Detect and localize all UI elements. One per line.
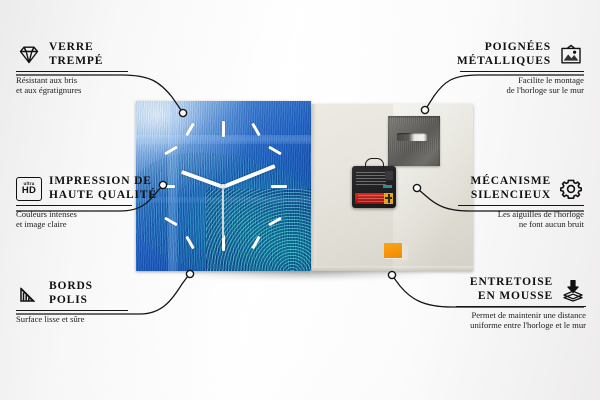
callout-title: VERRE TREMPÉ — [49, 41, 103, 68]
callout-title-line-2: HAUTE QUALITÉ — [49, 189, 157, 203]
callout-title-line-2: SILENCIEUX — [471, 189, 552, 203]
callout-header: ultra HD IMPRESSION DE HAUTE QUALITÉ — [16, 175, 148, 202]
callout-title: POIGNÉES MÉTALLIQUES — [457, 41, 551, 68]
callout-sub-line-1: Résistant aux bris — [16, 75, 144, 85]
callout-rule — [16, 205, 132, 206]
callout-rule — [458, 205, 584, 206]
callout-sub-line-1: Couleurs intenses — [16, 209, 148, 219]
callout-header: ENTRETOISE EN MOUSSE — [440, 276, 586, 303]
foam-spacer-arrow-icon — [560, 278, 586, 302]
callout-title-line-1: POIGNÉES — [457, 41, 551, 55]
callout-bords-polis: BORDS POLIS Surface lisse et sûre — [16, 280, 144, 324]
callout-sub-line-2: et image claire — [16, 219, 148, 229]
callout-rule — [456, 306, 586, 307]
ultra-hd-icon-main-label: HD — [22, 186, 36, 196]
wire-endpoint-impression — [159, 181, 166, 188]
callout-title-line-1: IMPRESSION DE — [49, 175, 157, 189]
ultra-hd-icon: ultra HD — [16, 177, 42, 201]
picture-frame-hanger-icon — [558, 43, 584, 67]
wire-endpoint-poignees — [421, 106, 428, 113]
callout-title: ENTRETOISE EN MOUSSE — [470, 276, 553, 303]
callout-sub-line-2: ne font aucun bruit — [442, 219, 584, 229]
callout-verre-trempe: VERRE TREMPÉ Résistant aux bris et aux é… — [16, 41, 144, 95]
callout-title: MÉCANISME SILENCIEUX — [471, 175, 552, 202]
gear-icon — [558, 177, 584, 201]
callout-title-line-2: POLIS — [49, 294, 93, 308]
callout-title: BORDS POLIS — [49, 280, 93, 307]
callout-title-line-1: BORDS — [49, 280, 93, 294]
callout-sub-line-2: uniforme entre l'horloge et le mur — [440, 320, 586, 330]
callout-sub-line-2: et aux égratignures — [16, 85, 144, 95]
wire-endpoint-bords-polis — [186, 270, 193, 277]
callout-title-line-1: MÉCANISME — [471, 175, 552, 189]
wire-endpoint-verre-trempe — [179, 109, 186, 116]
callout-title-line-2: MÉTALLIQUES — [457, 55, 551, 69]
callout-sub-line-1: Permet de maintenir une distance — [440, 310, 586, 320]
callout-mecanisme-silencieux: MÉCANISME SILENCIEUX Les aiguilles de l'… — [442, 175, 584, 229]
callout-header: POIGNÉES MÉTALLIQUES — [444, 41, 584, 68]
callout-header: VERRE TREMPÉ — [16, 41, 144, 68]
callout-header: MÉCANISME SILENCIEUX — [442, 175, 584, 202]
callout-sub-line-1: Les aiguilles de l'horloge — [442, 209, 584, 219]
infographic-canvas: VERRE TREMPÉ Résistant aux bris et aux é… — [0, 0, 600, 400]
wire-endpoint-entretoise — [388, 271, 395, 278]
callout-title-line-1: ENTRETOISE — [470, 276, 553, 290]
diamond-icon — [16, 43, 42, 67]
wire-endpoint-mecanisme — [413, 184, 420, 191]
callout-sub-line-1: Facilite le montage — [444, 75, 584, 85]
callout-rule — [16, 310, 128, 311]
callout-poignees-metalliques: POIGNÉES MÉTALLIQUES Facilite le montage… — [444, 41, 584, 95]
callout-title-line-2: TREMPÉ — [49, 55, 103, 69]
callout-title-line-2: EN MOUSSE — [470, 290, 553, 304]
callout-header: BORDS POLIS — [16, 280, 144, 307]
polished-edges-icon — [16, 282, 42, 306]
callout-title: IMPRESSION DE HAUTE QUALITÉ — [49, 175, 157, 202]
callout-title-line-1: VERRE — [49, 41, 103, 55]
callout-impression-haute-qualite: ultra HD IMPRESSION DE HAUTE QUALITÉ Cou… — [16, 175, 148, 229]
callout-rule — [460, 71, 584, 72]
callout-entretoise-en-mousse: ENTRETOISE EN MOUSSE Permet de maintenir… — [440, 276, 586, 330]
callout-sub-line-1: Surface lisse et sûre — [16, 314, 144, 324]
callout-sub-line-2: de l'horloge sur le mur — [444, 85, 584, 95]
callout-rule — [16, 71, 128, 72]
